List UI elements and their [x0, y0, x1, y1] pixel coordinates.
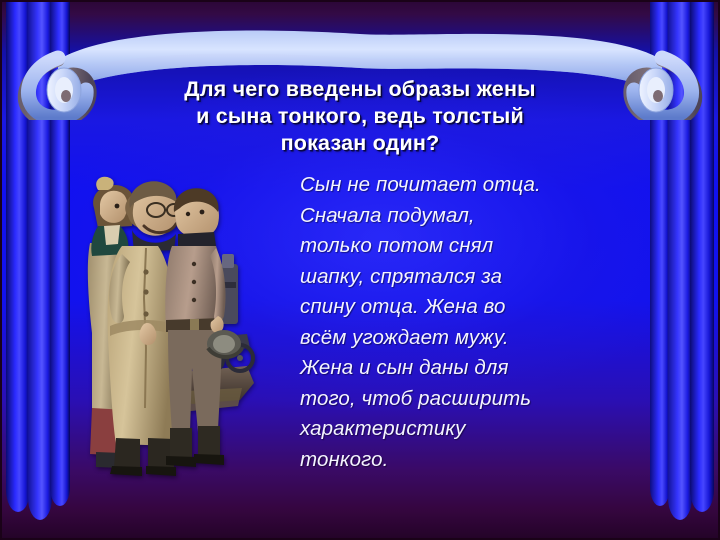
presentation-slide: Для чего введены образы жены и сына тонк… [0, 0, 720, 540]
illustration-thin-man-family [72, 168, 267, 483]
slide-title: Для чего введены образы жены и сына тонк… [60, 76, 660, 157]
slide-body-text: Сын не почитает отца. Сначала подумал, т… [300, 170, 640, 475]
